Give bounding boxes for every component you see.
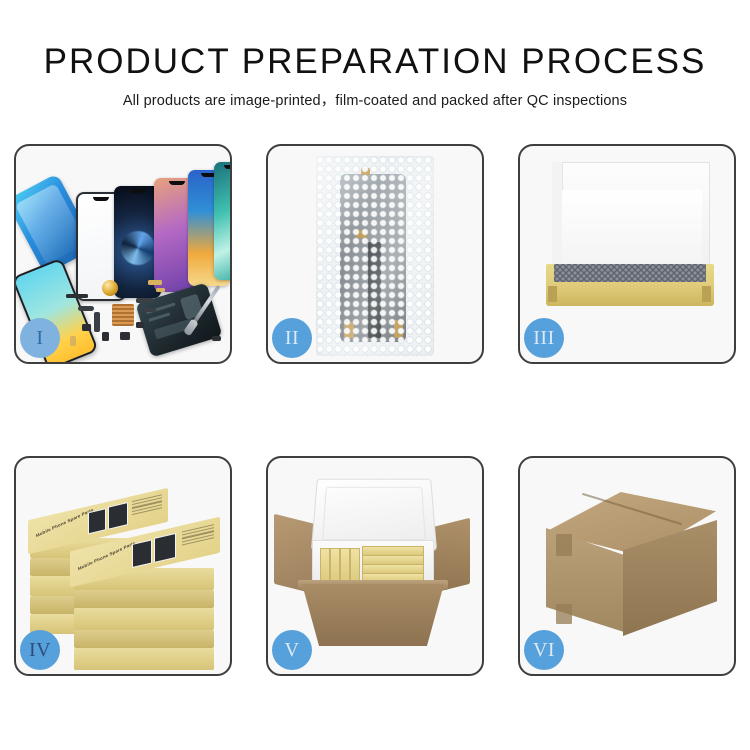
- stacked-box: [74, 590, 214, 608]
- process-step-6: VI: [518, 456, 736, 676]
- chip-part: [102, 332, 109, 341]
- product-window: [88, 508, 106, 534]
- packed-yellow-boxes: [320, 546, 424, 584]
- process-step-grid: I II: [14, 144, 736, 676]
- retail-box-label: Mobile Phone Spare Parts: [35, 507, 94, 538]
- copper-shield-grid: [112, 304, 134, 326]
- flex-cable: [136, 298, 154, 303]
- step-badge-2: II: [272, 318, 312, 358]
- product-window: [154, 533, 176, 563]
- page-title: PRODUCT PREPARATION PROCESS: [0, 0, 750, 79]
- chip-part: [82, 324, 91, 331]
- step-badge-4: IV: [20, 630, 60, 670]
- phone-screen-teal: [214, 162, 230, 280]
- gold-contact-part: [156, 288, 165, 292]
- carton-front: [302, 584, 444, 646]
- product-window: [108, 502, 128, 530]
- chip-part: [66, 294, 88, 298]
- gold-contact-part: [70, 336, 76, 346]
- spec-text-block: [182, 524, 214, 547]
- process-step-5: V: [266, 456, 484, 676]
- step-badge-1: I: [20, 318, 60, 358]
- process-step-3: III: [518, 144, 736, 364]
- step-badge-5: V: [272, 630, 312, 670]
- chip-part: [136, 322, 144, 328]
- carton-tape: [556, 604, 572, 624]
- white-foam-insert: [562, 190, 702, 266]
- process-step-4: Mobile Phone Spare Parts Mobile Phone Sp…: [14, 456, 232, 676]
- screw-part: [212, 336, 221, 341]
- vibration-motor-coil: [102, 280, 118, 296]
- chip-part: [120, 332, 130, 340]
- step-badge-6: VI: [524, 630, 564, 670]
- flex-cable: [78, 306, 94, 311]
- bubble-wrap-bag: [316, 156, 434, 356]
- stacked-box: [74, 630, 214, 648]
- gold-contact-part: [148, 280, 162, 285]
- header: PRODUCT PREPARATION PROCESS All products…: [0, 0, 750, 109]
- stacked-box: [74, 608, 214, 630]
- flex-cable: [94, 312, 100, 332]
- carton-tape: [556, 534, 572, 556]
- box-corner-notch: [702, 286, 711, 302]
- plastic-sheen: [316, 156, 434, 356]
- kraft-box-front: [546, 282, 714, 306]
- process-step-1: I: [14, 144, 232, 364]
- step-badge-3: III: [524, 318, 564, 358]
- stacked-box: [74, 648, 214, 670]
- page-subtitle: All products are image-printed，film-coat…: [0, 79, 750, 109]
- product-window: [132, 539, 152, 568]
- retail-box-stack: Mobile Phone Spare Parts Mobile Phone Sp…: [26, 480, 224, 660]
- flex-cable: [142, 308, 156, 312]
- product-preparation-infographic: PRODUCT PREPARATION PROCESS All products…: [0, 0, 750, 750]
- process-step-2: II: [266, 144, 484, 364]
- box-corner-notch: [548, 286, 557, 302]
- spec-text-block: [132, 494, 162, 517]
